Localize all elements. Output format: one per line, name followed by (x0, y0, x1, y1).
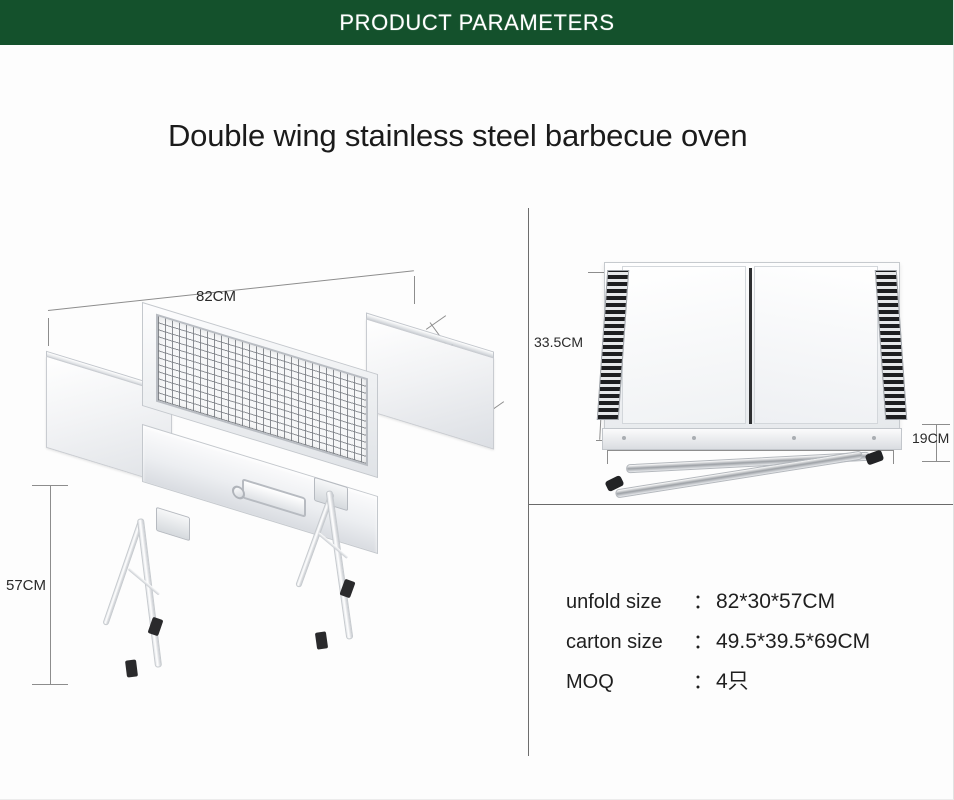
base-rivet (692, 436, 696, 440)
base-rivet (872, 436, 876, 440)
spec-row-carton-size: carton size ： 49.5*39.5*69CM (566, 625, 946, 654)
product-parameters-page: PRODUCT PARAMETERS Double wing stainless… (0, 0, 954, 800)
spec-colon: ： (690, 625, 716, 654)
leg-height-dimension-tick-top (922, 424, 950, 425)
width-dimension-tick-right (414, 276, 415, 304)
folded-base-rail (602, 428, 902, 450)
folded-wing-panel-left (622, 266, 746, 424)
leg-height-dimension-tick-bottom (922, 461, 950, 462)
base-rivet (622, 436, 626, 440)
spec-value-unfold-size: 82*30*57CM (716, 590, 835, 614)
page-title: Double wing stainless steel barbecue ove… (168, 118, 747, 154)
right-wing-tray (366, 318, 494, 449)
unfolded-grill-image (46, 330, 496, 690)
folded-wing-panel-right (754, 266, 878, 424)
spec-row-moq: MOQ ： 4只 (566, 665, 946, 695)
grill-leg-front-right (102, 520, 143, 626)
horizontal-divider (529, 504, 954, 505)
grill-foot-front-left (125, 659, 138, 677)
spec-value-carton-size: 49.5*39.5*69CM (716, 630, 870, 654)
page-banner: PRODUCT PARAMETERS (0, 0, 954, 45)
folded-panel-seam (749, 268, 752, 424)
grill-foot-rear-left (315, 631, 328, 649)
specification-list: unfold size ： 82*30*57CM carton size ： 4… (566, 585, 946, 706)
spec-colon: ： (690, 665, 716, 694)
height-dimension-label: 57CM (6, 577, 46, 594)
width-dimension-label: 82CM (196, 288, 236, 305)
folded-grill-image (596, 262, 908, 502)
spec-label-carton-size: carton size (566, 631, 690, 654)
banner-title: PRODUCT PARAMETERS (339, 10, 614, 36)
leg-height-dimension-label: 19CM (912, 430, 949, 446)
folded-height-dimension-label: 33.5CM (534, 334, 583, 350)
spec-row-unfold-size: unfold size ： 82*30*57CM (566, 585, 946, 614)
leg-hinge-plate-front (156, 507, 190, 541)
spec-label-moq: MOQ (566, 671, 690, 694)
base-rivet (792, 436, 796, 440)
spec-colon: ： (690, 585, 716, 614)
spec-label-unfold-size: unfold size (566, 591, 690, 614)
spec-value-moq: 4只 (716, 665, 749, 695)
